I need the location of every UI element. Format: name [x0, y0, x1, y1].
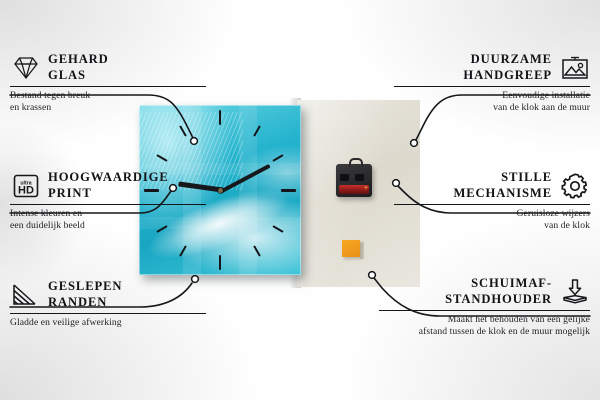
clock-mechanism: [336, 164, 372, 197]
feature-heading: SCHUIMAF-STANDHOUDER: [379, 276, 590, 307]
feature-title: SCHUIMAF-STANDHOUDER: [445, 276, 552, 307]
feature-title: GESLEPENRANDEN: [48, 279, 122, 310]
diamond-icon: [10, 52, 41, 83]
feature-description: Bestand tegen breuken krassen: [10, 90, 206, 114]
dial-tick-12: [219, 110, 221, 125]
mechanism-shaft: [349, 158, 363, 167]
feature-heading: STILLEMECHANISME: [394, 170, 590, 201]
feature-heading: DUURZAMEHANDGREEP: [394, 52, 590, 83]
feature-divider: [10, 204, 206, 205]
feature-description: Maakt het behouden van een gelijkeafstan…: [379, 314, 590, 338]
feature-heading: GESLEPENRANDEN: [10, 279, 206, 310]
ultra-hd-icon: ultra HD: [10, 170, 41, 201]
feature-title: HOOGWAARDIGEPRINT: [48, 170, 169, 201]
feature-divider: [394, 86, 590, 87]
beveled-edges-icon: [10, 279, 41, 310]
feature-title: GEHARDGLAS: [48, 52, 109, 83]
feature-title: STILLEMECHANISME: [453, 170, 552, 201]
feature-title: DUURZAMEHANDGREEP: [463, 52, 552, 83]
feature-divider: [379, 310, 590, 311]
feature-gehard-glas: GEHARDGLAS Bestand tegen breuken krassen: [10, 52, 206, 114]
dial-tick-6: [219, 255, 221, 270]
clock-center-pin: [218, 188, 223, 193]
svg-text:HD: HD: [18, 184, 34, 196]
battery: [339, 185, 369, 194]
gear-icon: [559, 170, 590, 201]
feature-description: Intense kleuren eneen duidelijk beeld: [10, 208, 206, 232]
feature-stille-mechanisme: STILLEMECHANISME Geruisloze wijzersvan d…: [394, 170, 590, 232]
foam-stand-icon: [559, 276, 590, 307]
feature-description: Geruisloze wijzersvan de klok: [394, 208, 590, 232]
feature-divider: [394, 204, 590, 205]
foam-pad: [342, 240, 360, 257]
feature-duurzame-handgreep: DUURZAMEHANDGREEP Eenvoudige installatie…: [394, 52, 590, 114]
dial-tick-3: [281, 189, 296, 192]
infographic-canvas: GEHARDGLAS Bestand tegen breuken krassen…: [0, 0, 600, 400]
feature-heading: GEHARDGLAS: [10, 52, 206, 83]
feature-description: Gladde en veilige afwerking: [10, 317, 206, 329]
mechanism-slot-left: [340, 174, 349, 181]
mechanism-slot-right: [355, 174, 364, 181]
feature-divider: [10, 86, 206, 87]
feature-divider: [10, 313, 206, 314]
picture-frame-icon: [559, 52, 590, 83]
feature-hoogwaardige-print: ultra HD HOOGWAARDIGEPRINT Intense kleur…: [10, 170, 206, 232]
feature-heading: ultra HD HOOGWAARDIGEPRINT: [10, 170, 206, 201]
feature-description: Eenvoudige installatievan de klok aan de…: [394, 90, 590, 114]
feature-geslepen-randen: GESLEPENRANDEN Gladde en veilige afwerki…: [10, 279, 206, 329]
feature-schuimaf-standhouder: SCHUIMAF-STANDHOUDER Maakt het behouden …: [379, 276, 590, 338]
